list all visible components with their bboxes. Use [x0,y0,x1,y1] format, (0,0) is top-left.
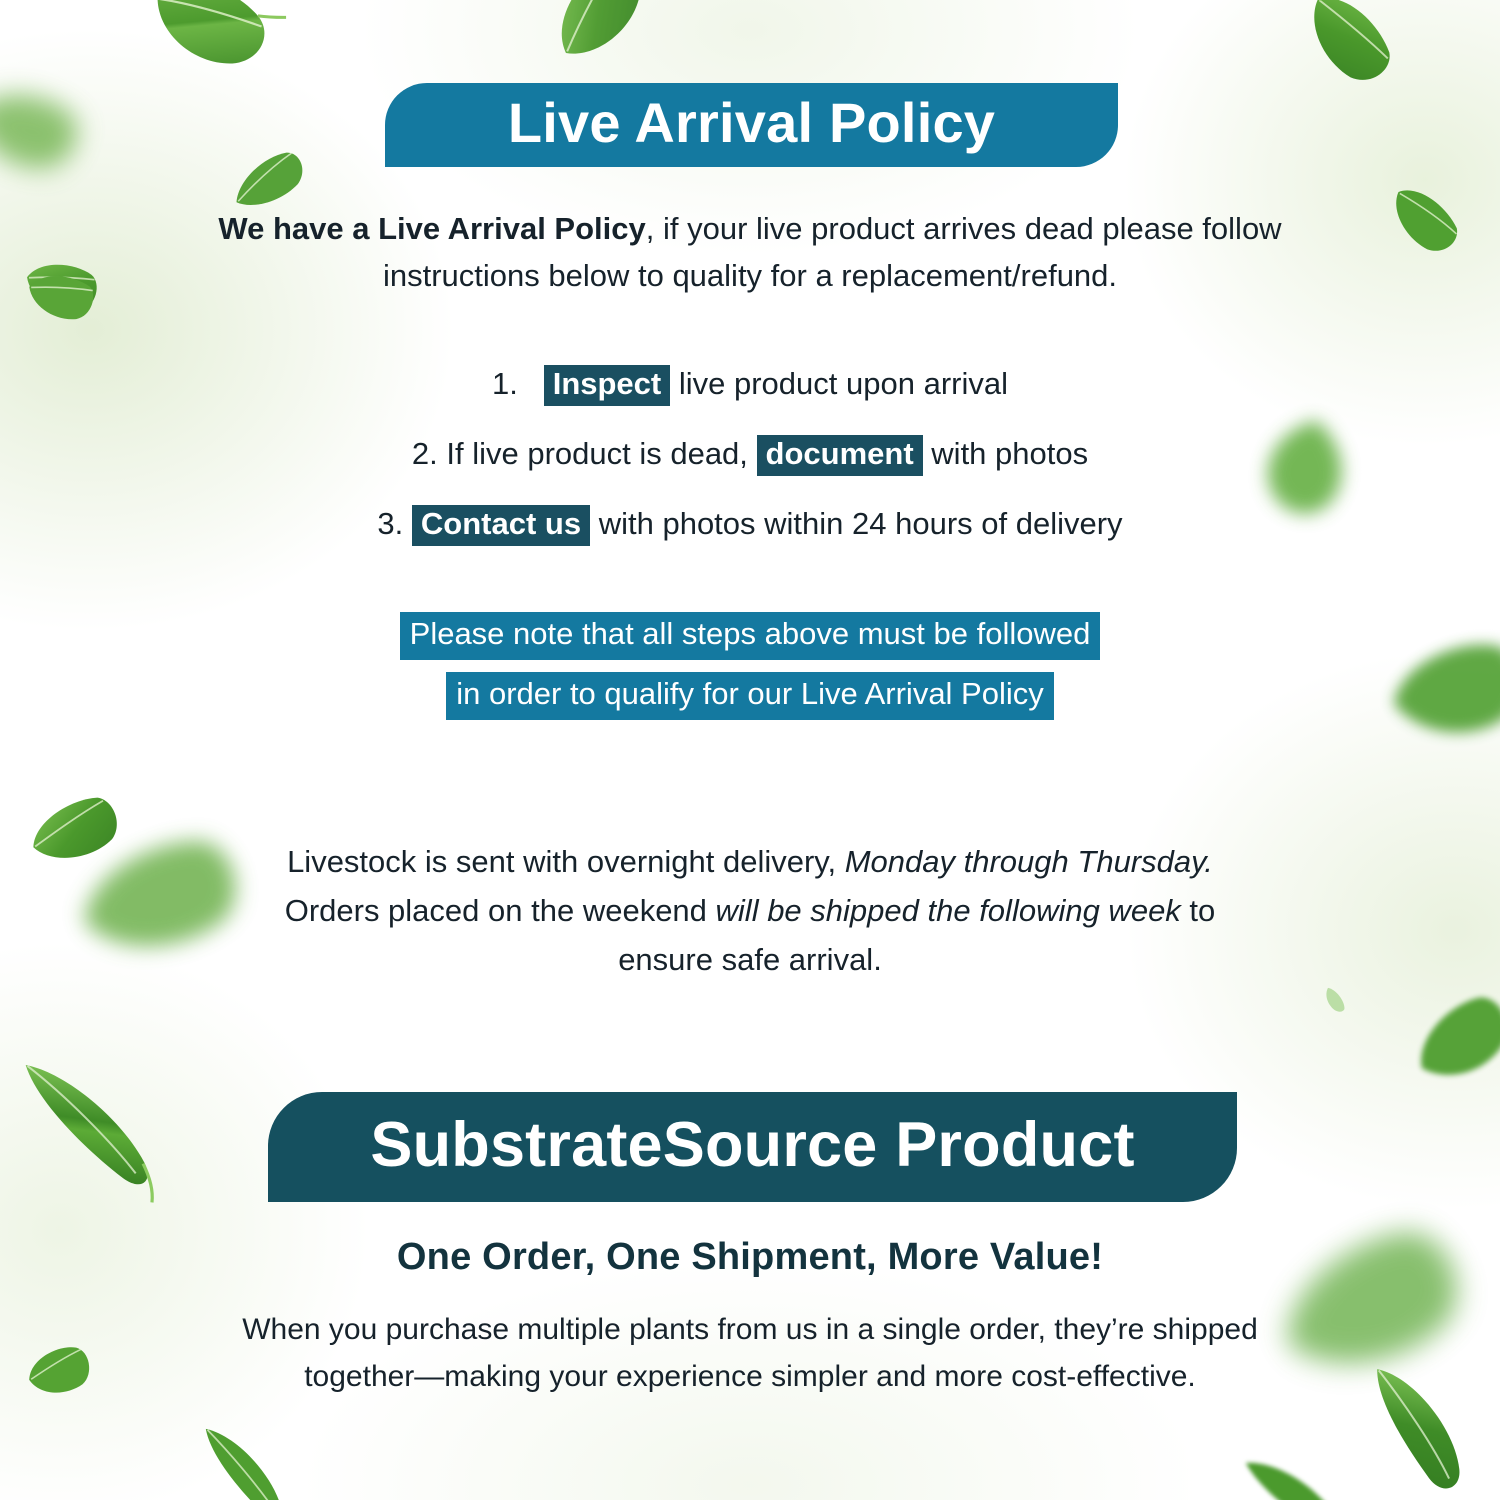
policy-note-line-2: in order to qualify for our Live Arrival… [446,672,1054,720]
policy-note-line-1: Please note that all steps above must be… [400,612,1101,660]
livestock-shipping-paragraph: Livestock is sent with overnight deliver… [0,838,1500,985]
policy-note: Please note that all steps above must be… [0,612,1500,732]
step-text: live product upon arrival [679,366,1008,401]
step-number: 2. [412,436,438,471]
substratesource-product-title: SubstrateSource Product [370,1114,1134,1177]
step-highlight-inspect: Inspect [544,365,671,406]
product-tagline: One Order, One Shipment, More Value! [0,1238,1500,1276]
step-number: 3. [377,506,403,541]
step-text: with photos [931,436,1088,471]
live-arrival-policy-title: Live Arrival Policy [508,95,995,151]
step-item: 3. Contact us with photos within 24 hour… [0,505,1500,546]
step-item: 2. If live product is dead, document wit… [0,435,1500,476]
intro-bold-text: We have a Live Arrival Policy [218,211,645,246]
livestock-text-1: Livestock is sent with overnight deliver… [287,844,845,879]
step-number: 1. [492,366,518,401]
livestock-italic-2: will be shipped the following week [716,893,1181,928]
livestock-text-2: Orders placed on the weekend [285,893,716,928]
livestock-italic-1: Monday through Thursday. [845,844,1213,879]
step-item: 1. Inspect live product upon arrival [0,365,1500,406]
product-description: When you purchase multiple plants from u… [0,1306,1500,1401]
content-root: Live Arrival Policy We have a Live Arriv… [0,0,1500,1500]
step-highlight-contact-us[interactable]: Contact us [412,505,590,546]
intro-paragraph: We have a Live Arrival Policy, if your l… [0,205,1500,299]
policy-infographic-page: Live Arrival Policy We have a Live Arriv… [0,0,1500,1500]
step-text-before: If live product is dead, [446,436,748,471]
step-text: with photos within 24 hours of delivery [599,506,1123,541]
step-highlight-document: document [757,435,923,476]
steps-list: 1. Inspect live product upon arrival 2. … [0,365,1500,575]
substratesource-product-banner: SubstrateSource Product [268,1092,1237,1202]
live-arrival-policy-banner: Live Arrival Policy [385,83,1118,167]
